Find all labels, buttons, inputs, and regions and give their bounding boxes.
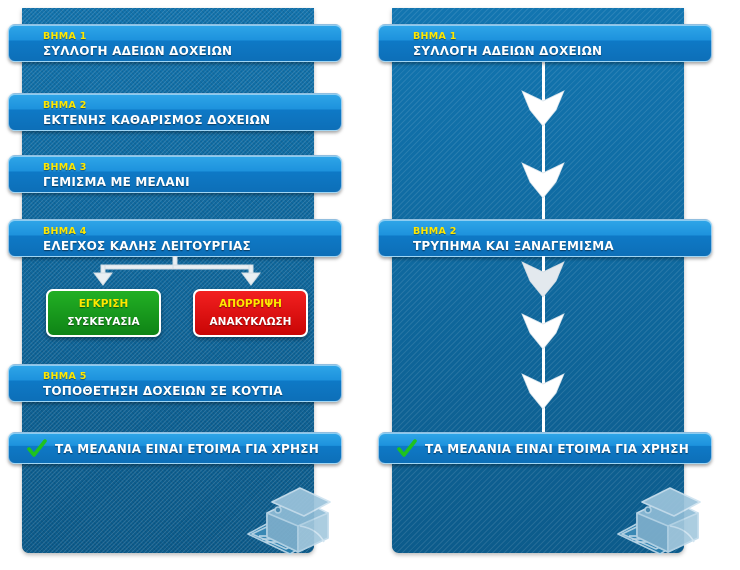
left-final-bar[interactable]: ΤΑ ΜΕΛΑΝΙΑ ΕΙΝΑΙ ΕΤΟΙΜΑ ΓΙΑ ΧΡΗΣΗ (8, 432, 342, 464)
left-final-text: ΤΑ ΜΕΛΑΝΙΑ ΕΙΝΑΙ ΕΤΟΙΜΑ ΓΙΑ ΧΡΗΣΗ (55, 433, 319, 465)
check-icon (397, 439, 417, 459)
decision-approve-outcome: ΣΥΣΚΕΥΑΣΙΑ (48, 316, 159, 328)
left-final-label: ΤΑ ΜΕΛΑΝΙΑ ΕΙΝΑΙ ΕΤΟΙΜΑ ΓΙΑ ΧΡΗΣΗ (55, 433, 319, 465)
left-step-4-number: ΒΗΜΑ 4 (43, 226, 251, 237)
left-step-bar-5[interactable]: ΒΗΜΑ 5 ΤΟΠΟΘΕΤΗΣΗ ΔΟΧΕΙΩΝ ΣΕ ΚΟΥΤΙΑ (8, 364, 342, 402)
right-step-bar-1[interactable]: ΒΗΜΑ 1 ΣΥΛΛΟΓΗ ΑΔΕΙΩΝ ΔΟΧΕΙΩΝ (378, 24, 712, 62)
check-icon (27, 439, 47, 459)
right-step-2-number: ΒΗΜΑ 2 (413, 226, 614, 237)
left-step-1-number: ΒΗΜΑ 1 (43, 31, 232, 42)
right-final-bar[interactable]: ΤΑ ΜΕΛΑΝΙΑ ΕΙΝΑΙ ΕΤΟΙΜΑ ΓΙΑ ΧΡΗΣΗ (378, 432, 712, 464)
left-step-5-title: ΤΟΠΟΘΕΤΗΣΗ ΔΟΧΕΙΩΝ ΣΕ ΚΟΥΤΙΑ (43, 384, 283, 398)
left-step-1-text: ΒΗΜΑ 1 ΣΥΛΛΟΓΗ ΑΔΕΙΩΝ ΔΟΧΕΙΩΝ (43, 31, 232, 58)
decision-approve-headline: ΕΓΚΡΙΣΗ (48, 298, 159, 310)
left-step-2-title: ΕΚΤΕΝΗΣ ΚΑΘΑΡΙΣΜΟΣ ΔΟΧΕΙΩΝ (43, 113, 270, 127)
left-step-5-number: ΒΗΜΑ 5 (43, 371, 283, 382)
left-step-4-text: ΒΗΜΑ 4 ΕΛΕΓΧΟΣ ΚΑΛΗΣ ΛΕΙΤΟΥΡΓΙΑΣ (43, 226, 251, 253)
left-step-5-text: ΒΗΜΑ 5 ΤΟΠΟΘΕΤΗΣΗ ΔΟΧΕΙΩΝ ΣΕ ΚΟΥΤΙΑ (43, 371, 283, 398)
decision-box-reject[interactable]: ΑΠΟΡΡΙΨΗ ΑΝΑΚΥΚΛΩΣΗ (193, 289, 308, 337)
right-step-1-title: ΣΥΛΛΟΓΗ ΑΔΕΙΩΝ ΔΟΧΕΙΩΝ (413, 44, 602, 58)
decision-box-approve[interactable]: ΕΓΚΡΙΣΗ ΣΥΣΚΕΥΑΣΙΑ (46, 289, 161, 337)
left-step-3-number: ΒΗΜΑ 3 (43, 162, 190, 173)
left-step-bar-2[interactable]: ΒΗΜΑ 2 ΕΚΤΕΝΗΣ ΚΑΘΑΡΙΣΜΟΣ ΔΟΧΕΙΩΝ (8, 93, 342, 131)
left-step-bar-1[interactable]: ΒΗΜΑ 1 ΣΥΛΛΟΓΗ ΑΔΕΙΩΝ ΔΟΧΕΙΩΝ (8, 24, 342, 62)
right-panel-background (392, 8, 684, 553)
left-step-bar-4[interactable]: ΒΗΜΑ 4 ΕΛΕΓΧΟΣ ΚΑΛΗΣ ΛΕΙΤΟΥΡΓΙΑΣ (8, 219, 342, 257)
left-step-1-title: ΣΥΛΛΟΓΗ ΑΔΕΙΩΝ ΔΟΧΕΙΩΝ (43, 44, 232, 58)
right-step-2-text: ΒΗΜΑ 2 ΤΡΥΠΗΜΑ ΚΑΙ ΞΑΝΑΓΕΜΙΣΜΑ (413, 226, 614, 253)
left-step-3-text: ΒΗΜΑ 3 ΓΕΜΙΣΜΑ ΜΕ ΜΕΛΑΝΙ (43, 162, 190, 189)
right-final-label: ΤΑ ΜΕΛΑΝΙΑ ΕΙΝΑΙ ΕΤΟΙΜΑ ΓΙΑ ΧΡΗΣΗ (425, 433, 689, 465)
right-step-bar-2[interactable]: ΒΗΜΑ 2 ΤΡΥΠΗΜΑ ΚΑΙ ΞΑΝΑΓΕΜΙΣΜΑ (378, 219, 712, 257)
right-process-column: ΒΗΜΑ 1 ΣΥΛΛΟΓΗ ΑΔΕΙΩΝ ΔΟΧΕΙΩΝ ΒΗΜΑ 2 ΤΡΥ… (370, 0, 718, 570)
right-step-1-number: ΒΗΜΑ 1 (413, 31, 602, 42)
right-step-1-text: ΒΗΜΑ 1 ΣΥΛΛΟΓΗ ΑΔΕΙΩΝ ΔΟΧΕΙΩΝ (413, 31, 602, 58)
right-step-2-title: ΤΡΥΠΗΜΑ ΚΑΙ ΞΑΝΑΓΕΜΙΣΜΑ (413, 239, 614, 253)
diagram-stage: ΒΗΜΑ 1 ΣΥΛΛΟΓΗ ΑΔΕΙΩΝ ΔΟΧΕΙΩΝ ΒΗΜΑ 2 ΕΚΤ… (0, 0, 740, 570)
left-step-2-number: ΒΗΜΑ 2 (43, 100, 270, 111)
decision-reject-headline: ΑΠΟΡΡΙΨΗ (195, 298, 306, 310)
left-step-3-title: ΓΕΜΙΣΜΑ ΜΕ ΜΕΛΑΝΙ (43, 175, 190, 189)
decision-reject-outcome: ΑΝΑΚΥΚΛΩΣΗ (195, 316, 306, 328)
left-step-bar-3[interactable]: ΒΗΜΑ 3 ΓΕΜΙΣΜΑ ΜΕ ΜΕΛΑΝΙ (8, 155, 342, 193)
left-process-column: ΒΗΜΑ 1 ΣΥΛΛΟΓΗ ΑΔΕΙΩΝ ΔΟΧΕΙΩΝ ΒΗΜΑ 2 ΕΚΤ… (0, 0, 348, 570)
left-step-4-title: ΕΛΕΓΧΟΣ ΚΑΛΗΣ ΛΕΙΤΟΥΡΓΙΑΣ (43, 239, 251, 253)
left-step-2-text: ΒΗΜΑ 2 ΕΚΤΕΝΗΣ ΚΑΘΑΡΙΣΜΟΣ ΔΟΧΕΙΩΝ (43, 100, 270, 127)
right-final-text: ΤΑ ΜΕΛΑΝΙΑ ΕΙΝΑΙ ΕΤΟΙΜΑ ΓΙΑ ΧΡΗΣΗ (425, 433, 689, 465)
left-panel-background (22, 8, 314, 553)
